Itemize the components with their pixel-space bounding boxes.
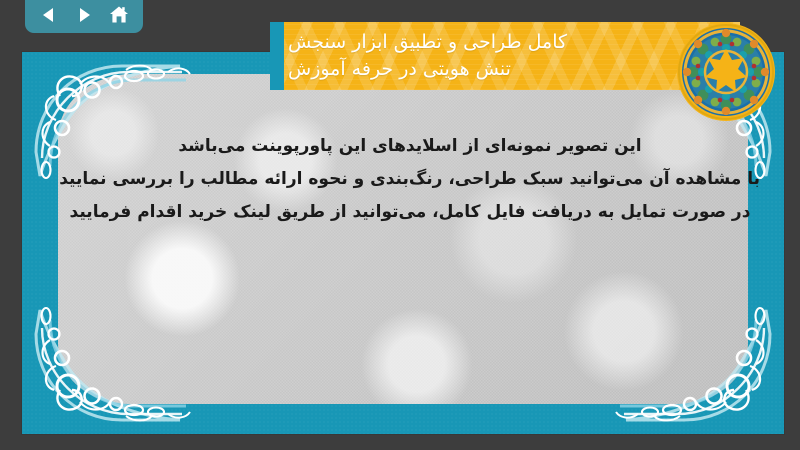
forward-button[interactable] [71, 2, 97, 28]
persian-medallion-icon [676, 22, 776, 122]
navigation-bar [25, 0, 143, 33]
back-arrow-icon [39, 5, 59, 25]
home-icon [108, 4, 130, 26]
back-button[interactable] [36, 2, 62, 28]
banner-title: کامل طراحی و تطبیق ابزار سنجش تنش هویتی … [270, 22, 740, 90]
home-button[interactable] [106, 2, 132, 28]
slide-viewer: کامل طراحی و تطبیق ابزار سنجش تنش هویتی … [0, 0, 800, 450]
corner-ornaments [22, 52, 784, 434]
title-banner: کامل طراحی و تطبیق ابزار سنجش تنش هویتی … [270, 22, 740, 90]
slide-body-text: این تصویر نمونه‌ای از اسلایدهای این پاور… [60, 130, 760, 229]
body-line-2: با مشاهده آن می‌توانید سبک طراحی، رنگ‌بن… [60, 163, 760, 196]
banner-title-line-1: کامل طراحی و تطبیق ابزار سنجش [288, 29, 567, 56]
body-line-1: این تصویر نمونه‌ای از اسلایدهای این پاور… [60, 130, 760, 163]
forward-arrow-icon [74, 5, 94, 25]
banner-title-line-2: تنش هویتی در حرفه آموزش [288, 56, 511, 83]
body-line-3: در صورت تمایل به دریافت فایل کامل، می‌تو… [60, 196, 760, 229]
